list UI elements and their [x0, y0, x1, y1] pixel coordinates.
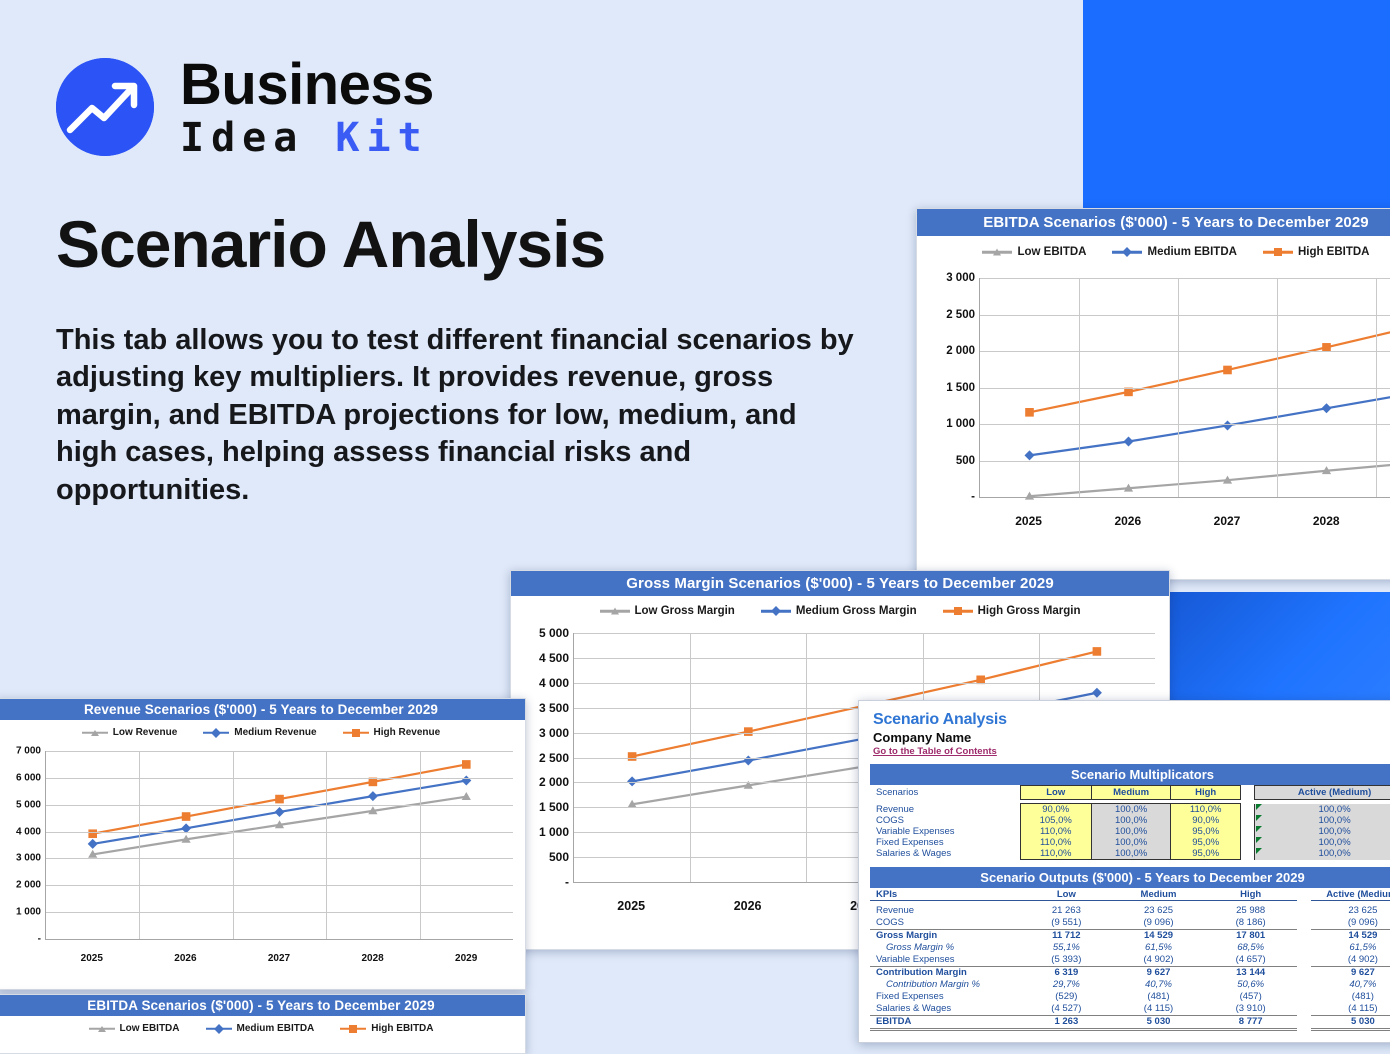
series-marker	[1223, 420, 1233, 430]
series-marker	[369, 778, 378, 787]
y-axis-tick: 3 000	[946, 272, 975, 284]
legend-item-low: Low EBITDA	[89, 1023, 180, 1034]
cell-medium[interactable]: 100,0%	[1091, 815, 1170, 826]
chart-plot-area: -5001 0001 5002 0002 5003 000 2025202620…	[917, 270, 1390, 538]
legend-marker-high-icon	[1263, 247, 1293, 257]
chart-panel-ebitda-bottom: EBITDA Scenarios ($'000) - 5 Years to De…	[0, 994, 526, 1054]
x-axis-labels: 20252026202720282029	[45, 953, 513, 964]
cell-low: 1 263	[1020, 1015, 1112, 1029]
cell-active: 23 625	[1311, 905, 1390, 917]
brand-name-primary: Business	[180, 56, 434, 114]
row-label: Variable Expenses	[870, 826, 1020, 837]
scenario-multiplicators-table: Scenarios Low Medium High Active (Medium…	[870, 785, 1390, 860]
cell-medium[interactable]: 100,0%	[1091, 837, 1170, 848]
legend-marker-medium-icon	[761, 606, 791, 616]
series-marker	[275, 795, 284, 804]
series-marker	[1124, 388, 1133, 397]
row-label: Revenue	[870, 804, 1020, 816]
cell-active: 9 627	[1311, 966, 1390, 979]
table-row: Contribution Margin % 29,7% 40,7% 50,6% …	[870, 979, 1390, 991]
cell-low: (9 551)	[1020, 917, 1112, 930]
column-header-low: Low	[1020, 786, 1091, 800]
series-marker	[1093, 647, 1102, 656]
chart-title: EBITDA Scenarios ($'000) - 5 Years to De…	[0, 995, 525, 1016]
cell-high[interactable]: 95,0%	[1171, 837, 1241, 848]
column-header-high: High	[1205, 888, 1297, 901]
chart-legend: Low Revenue Medium Revenue High Revenue	[0, 727, 525, 738]
legend-marker-low-icon	[600, 606, 630, 616]
table-row: COGS 105,0% 100,0% 90,0% 100,0%	[870, 815, 1390, 826]
cell-active: 14 529	[1311, 929, 1390, 942]
cell-high: (457)	[1205, 991, 1297, 1003]
scenario-analysis-sheet: Scenario Analysis Company Name Go to the…	[858, 700, 1390, 1043]
legend-marker-high-icon	[943, 606, 973, 616]
table-row: Gross Margin 11 712 14 529 17 801 14 529	[870, 929, 1390, 942]
legend-label: Low Revenue	[113, 727, 177, 738]
chart-title: Revenue Scenarios ($'000) - 5 Years to D…	[0, 699, 525, 720]
gridline	[980, 351, 1390, 352]
legend-marker-medium-icon	[1112, 247, 1142, 257]
row-label: Salaries & Wages	[870, 1003, 1020, 1016]
cell-medium: (4 115)	[1112, 1003, 1204, 1016]
cell-active: 100,0%	[1255, 848, 1390, 860]
gridline	[46, 885, 513, 886]
legend-item-high: High Revenue	[343, 727, 441, 738]
column-header-high: High	[1171, 786, 1241, 800]
row-label: Contribution Margin %	[870, 979, 1020, 991]
row-label: COGS	[870, 917, 1020, 930]
cell-active: 100,0%	[1255, 826, 1390, 837]
y-axis-tick: 4 500	[539, 651, 569, 665]
x-axis-tick: 2026	[689, 899, 805, 913]
gridline	[46, 832, 513, 833]
decorative-blue-block-middle	[1170, 592, 1390, 702]
brand-word-idea: Idea	[180, 115, 304, 161]
cell-high[interactable]: 110,0%	[1171, 804, 1241, 816]
plot-grid	[45, 751, 513, 940]
table-row: Variable Expenses (5 393) (4 902) (4 657…	[870, 954, 1390, 967]
row-label: Gross Margin %	[870, 942, 1020, 954]
table-row: EBITDA 1 263 5 030 8 777 5 030	[870, 1015, 1390, 1029]
comment-flag-icon	[1256, 848, 1262, 854]
x-axis-tick: 2027	[232, 953, 326, 964]
brand-name-secondary: Idea Kit	[180, 118, 434, 158]
column-header-medium: Medium	[1112, 888, 1204, 901]
legend-label: High EBITDA	[371, 1023, 433, 1034]
x-axis-tick: 2026	[1078, 514, 1177, 528]
legend-item-high: High Gross Margin	[943, 605, 1081, 617]
row-label: Gross Margin	[870, 929, 1020, 942]
gridline	[574, 633, 1155, 634]
x-axis-tick: 2028	[1277, 514, 1376, 528]
legend-item-medium: Medium EBITDA	[1112, 246, 1236, 258]
outputs-band: Scenario Outputs ($'000) - 5 Years to De…	[870, 867, 1390, 888]
page-description: This tab allows you to test different fi…	[56, 322, 856, 509]
gridline	[46, 778, 513, 779]
cell-active: 61,5%	[1311, 942, 1390, 954]
gridline	[1277, 278, 1278, 497]
gridline	[139, 751, 140, 939]
legend-label: Low EBITDA	[1017, 246, 1086, 258]
gridline	[1376, 278, 1377, 497]
y-axis-tick: 2 500	[539, 751, 569, 765]
cell-medium: (481)	[1112, 991, 1204, 1003]
cell-high: (4 657)	[1205, 954, 1297, 967]
spacer	[1241, 786, 1255, 800]
cell-active: 100,0%	[1255, 804, 1390, 816]
cell-low[interactable]: 90,0%	[1020, 804, 1091, 816]
row-label: Variable Expenses	[870, 954, 1020, 967]
y-axis-tick: 500	[549, 850, 569, 864]
cell-medium: 9 627	[1112, 966, 1204, 979]
table-row: Salaries & Wages 110,0% 100,0% 95,0% 100…	[870, 848, 1390, 860]
comment-flag-icon	[1256, 815, 1262, 821]
column-header-medium: Medium	[1091, 786, 1170, 800]
legend-label: Medium Revenue	[234, 727, 316, 738]
plot-grid	[979, 278, 1390, 498]
series-marker	[1025, 408, 1034, 417]
gridline	[420, 751, 421, 939]
table-header-row: KPIs Low Medium High Active (Medium)	[870, 888, 1390, 901]
legend-marker-low-icon	[82, 728, 108, 738]
cell-medium: 61,5%	[1112, 942, 1204, 954]
cell-medium: 23 625	[1112, 905, 1204, 917]
y-axis-tick: 1 000	[16, 907, 41, 918]
y-axis-tick: 4 000	[16, 826, 41, 837]
y-axis-tick: 3 000	[16, 853, 41, 864]
series-marker	[628, 752, 637, 761]
x-axis-tick: 2025	[979, 514, 1078, 528]
decorative-blue-block-top	[1083, 0, 1390, 208]
table-row: Contribution Margin 6 319 9 627 13 144 9…	[870, 966, 1390, 979]
cell-medium: (9 096)	[1112, 917, 1204, 930]
legend-marker-medium-icon	[203, 728, 229, 738]
legend-item-high: High EBITDA	[340, 1023, 433, 1034]
cell-active: (481)	[1311, 991, 1390, 1003]
column-header-low: Low	[1020, 888, 1112, 901]
x-axis-tick: 2027	[1177, 514, 1276, 528]
brand-word-kit: Kit	[335, 115, 428, 161]
y-axis-tick: -	[38, 934, 41, 945]
series-line	[1030, 324, 1390, 412]
legend-marker-low-icon	[89, 1024, 115, 1034]
series-marker	[627, 776, 637, 786]
cell-active: 100,0%	[1255, 837, 1390, 848]
cell-high[interactable]: 90,0%	[1171, 815, 1241, 826]
chart-legend: Low EBITDA Medium EBITDA High EBITDA	[0, 1023, 525, 1034]
legend-label: High EBITDA	[1298, 246, 1370, 258]
y-axis-labels: -1 0002 0003 0004 0005 0006 0007 000	[0, 746, 45, 974]
chart-plot-area: -1 0002 0003 0004 0005 0006 0007 000 202…	[0, 746, 525, 974]
row-label: Fixed Expenses	[870, 837, 1020, 848]
row-label: Contribution Margin	[870, 966, 1020, 979]
x-axis-tick: 2029	[419, 953, 513, 964]
y-axis-tick: 2 000	[16, 880, 41, 891]
table-row: Salaries & Wages (4 527) (4 115) (3 910)…	[870, 1003, 1390, 1016]
cell-high: 17 801	[1205, 929, 1297, 942]
gridline	[980, 424, 1390, 425]
legend-label: Medium EBITDA	[237, 1023, 315, 1034]
cell-high[interactable]: 95,0%	[1171, 826, 1241, 837]
legend-marker-medium-icon	[206, 1024, 232, 1034]
cell-low: 11 712	[1020, 929, 1112, 942]
cell-high: (8 186)	[1205, 917, 1297, 930]
chart-title: EBITDA Scenarios ($'000) - 5 Years to De…	[917, 209, 1390, 236]
row-label: EBITDA	[870, 1015, 1020, 1029]
gridline	[574, 683, 1155, 684]
gridline	[980, 315, 1390, 316]
legend-marker-low-icon	[982, 247, 1012, 257]
sheet-company-name: Company Name	[873, 730, 1390, 745]
table-row: Gross Margin % 55,1% 61,5% 68,5% 61,5%	[870, 942, 1390, 954]
x-axis-tick: 2025	[573, 899, 689, 913]
cell-high[interactable]: 95,0%	[1171, 848, 1241, 860]
column-header-active: Active (Medium)	[1255, 786, 1390, 800]
y-axis-tick: 1 000	[946, 418, 975, 430]
cell-high: 25 988	[1205, 905, 1297, 917]
brand-logo: Business Idea Kit	[56, 56, 434, 158]
table-row: COGS (9 551) (9 096) (8 186) (9 096)	[870, 917, 1390, 930]
growth-arrow-icon	[56, 58, 154, 156]
legend-label: Low Gross Margin	[635, 605, 735, 617]
y-axis-tick: 7 000	[16, 746, 41, 757]
column-header-active: Active (Medium)	[1311, 888, 1390, 901]
scenarios-label: Scenarios	[870, 786, 1020, 800]
y-axis-labels: -5001 0001 5002 0002 5003 000	[917, 270, 979, 538]
gridline	[326, 751, 327, 939]
chart-legend: Low Gross Margin Medium Gross Margin Hig…	[511, 605, 1169, 617]
legend-item-low: Low Revenue	[82, 727, 177, 738]
cell-medium: 40,7%	[1112, 979, 1204, 991]
series-marker	[1124, 437, 1134, 447]
legend-marker-high-icon	[343, 728, 369, 738]
cell-low: 21 263	[1020, 905, 1112, 917]
x-axis-tick: 2029	[1376, 514, 1390, 528]
series-marker	[744, 727, 753, 736]
legend-label: Medium EBITDA	[1147, 246, 1236, 258]
series-marker	[1322, 403, 1332, 413]
gridline	[806, 633, 807, 882]
cell-low: 29,7%	[1020, 979, 1112, 991]
legend-label: Low EBITDA	[120, 1023, 180, 1034]
gridline	[1178, 278, 1179, 497]
gridline	[980, 461, 1390, 462]
comment-flag-icon	[1256, 804, 1262, 810]
series-line	[1030, 462, 1390, 496]
cell-high: 50,6%	[1205, 979, 1297, 991]
y-axis-tick: 1 500	[946, 382, 975, 394]
cell-active: 100,0%	[1255, 815, 1390, 826]
cell-low[interactable]: 110,0%	[1020, 837, 1091, 848]
cell-low: 55,1%	[1020, 942, 1112, 954]
gridline	[1079, 278, 1080, 497]
series-marker	[368, 791, 378, 801]
y-axis-tick: -	[565, 875, 569, 889]
series-marker	[1025, 450, 1035, 460]
y-axis-tick: 2 500	[946, 309, 975, 321]
row-label: Salaries & Wages	[870, 848, 1020, 860]
x-axis-tick: 2028	[326, 953, 420, 964]
y-axis-tick: 1 000	[539, 825, 569, 839]
y-axis-tick: 3 000	[539, 726, 569, 740]
cell-medium: (4 902)	[1112, 954, 1204, 967]
cell-medium: 14 529	[1112, 929, 1204, 942]
cell-low: (529)	[1020, 991, 1112, 1003]
sheet-title: Scenario Analysis	[873, 711, 1390, 729]
cell-medium[interactable]: 100,0%	[1091, 848, 1170, 860]
legend-label: High Revenue	[374, 727, 441, 738]
gridline	[46, 805, 513, 806]
table-row: Fixed Expenses 110,0% 100,0% 95,0% 100,0…	[870, 837, 1390, 848]
table-row: Revenue 90,0% 100,0% 110,0% 100,0%	[870, 804, 1390, 816]
y-axis-tick: 5 000	[539, 626, 569, 640]
x-axis-labels: 20252026202720282029	[979, 514, 1390, 528]
gridline	[46, 858, 513, 859]
multiplicators-band: Scenario Multiplicators	[870, 764, 1390, 785]
row-label: Revenue	[870, 905, 1020, 917]
chart-title: Gross Margin Scenarios ($'000) - 5 Years…	[511, 571, 1169, 596]
legend-label: High Gross Margin	[978, 605, 1081, 617]
cell-high: (3 910)	[1205, 1003, 1297, 1016]
cell-low: (4 527)	[1020, 1003, 1112, 1016]
y-axis-tick: 2 000	[539, 775, 569, 789]
y-axis-tick: 6 000	[16, 772, 41, 783]
y-axis-tick: 500	[956, 455, 975, 467]
y-axis-tick: 2 000	[946, 345, 975, 357]
cell-medium: 5 030	[1112, 1015, 1204, 1029]
column-header-kpis: KPIs	[870, 888, 1020, 901]
table-row: Fixed Expenses (529) (481) (457) (481)	[870, 991, 1390, 1003]
gridline	[46, 912, 513, 913]
page-title: Scenario Analysis	[56, 206, 605, 282]
y-axis-tick: 1 500	[539, 800, 569, 814]
series-marker	[462, 760, 471, 769]
legend-item-medium: Medium Revenue	[203, 727, 316, 738]
comment-flag-icon	[1256, 826, 1262, 832]
series-marker	[182, 812, 191, 821]
series-marker	[1223, 366, 1232, 375]
legend-item-medium: Medium EBITDA	[206, 1023, 315, 1034]
series-marker	[1092, 688, 1102, 698]
chart-legend: Low EBITDA Medium EBITDA High EBITDA	[917, 246, 1390, 258]
cell-high: 13 144	[1205, 966, 1297, 979]
row-label: COGS	[870, 815, 1020, 826]
table-row: Revenue 21 263 23 625 25 988 23 625	[870, 905, 1390, 917]
cell-medium[interactable]: 100,0%	[1091, 826, 1170, 837]
gridline	[574, 658, 1155, 659]
cell-high: 68,5%	[1205, 942, 1297, 954]
cell-low[interactable]: 105,0%	[1020, 815, 1091, 826]
series-marker	[88, 839, 98, 849]
cell-high: 8 777	[1205, 1015, 1297, 1029]
comment-flag-icon	[1256, 837, 1262, 843]
row-label: Fixed Expenses	[870, 991, 1020, 1003]
y-axis-tick: 3 500	[539, 701, 569, 715]
cell-low: 6 319	[1020, 966, 1112, 979]
legend-item-medium: Medium Gross Margin	[761, 605, 917, 617]
cell-active: (9 096)	[1311, 917, 1390, 930]
scenario-outputs-table: KPIs Low Medium High Active (Medium) Rev…	[870, 888, 1390, 1031]
cell-active: 40,7%	[1311, 979, 1390, 991]
legend-item-low: Low Gross Margin	[600, 605, 735, 617]
cell-medium[interactable]: 100,0%	[1091, 804, 1170, 816]
gridline	[46, 751, 513, 752]
y-axis-tick: -	[971, 491, 975, 503]
cell-low[interactable]: 110,0%	[1020, 848, 1091, 860]
table-header-row: Scenarios Low Medium High Active (Medium…	[870, 786, 1390, 800]
gridline	[980, 278, 1390, 279]
table-row: Variable Expenses 110,0% 100,0% 95,0% 10…	[870, 826, 1390, 837]
legend-item-high: High EBITDA	[1263, 246, 1370, 258]
cell-active: (4 902)	[1311, 954, 1390, 967]
y-axis-tick: 5 000	[16, 799, 41, 810]
y-axis-tick: 4 000	[539, 676, 569, 690]
chart-panel-ebitda-top: EBITDA Scenarios ($'000) - 5 Years to De…	[916, 208, 1390, 580]
x-axis-tick: 2025	[45, 953, 139, 964]
cell-active: (4 115)	[1311, 1003, 1390, 1016]
x-axis-tick: 2026	[139, 953, 233, 964]
cell-active: 5 030	[1311, 1015, 1390, 1029]
cell-low[interactable]: 110,0%	[1020, 826, 1091, 837]
gridline	[980, 388, 1390, 389]
gridline	[233, 751, 234, 939]
legend-item-low: Low EBITDA	[982, 246, 1086, 258]
cell-low: (5 393)	[1020, 954, 1112, 967]
chart-series-lines	[46, 751, 513, 939]
series-marker	[275, 807, 285, 817]
gridline	[690, 633, 691, 882]
chart-panel-revenue: Revenue Scenarios ($'000) - 5 Years to D…	[0, 698, 526, 990]
table-of-contents-link[interactable]: Go to the Table of Contents	[873, 746, 997, 757]
slide-canvas: Business Idea Kit Scenario Analysis This…	[0, 0, 1390, 1043]
legend-label: Medium Gross Margin	[796, 605, 917, 617]
legend-marker-high-icon	[340, 1024, 366, 1034]
